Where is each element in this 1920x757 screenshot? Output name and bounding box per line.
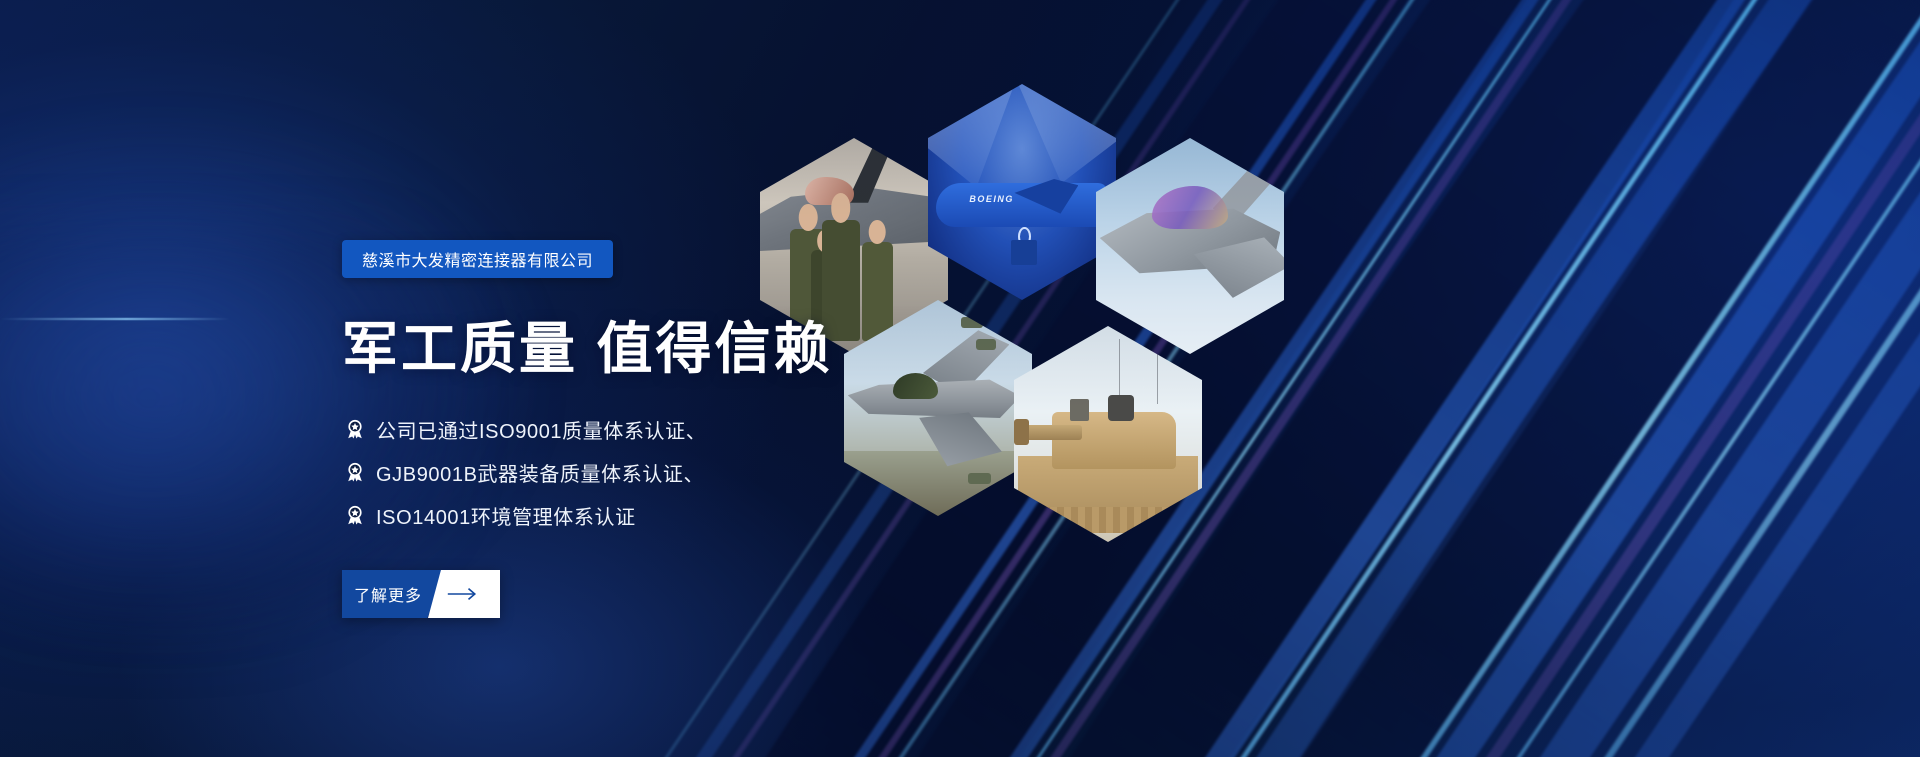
- hero-banner: BOEING: [0, 0, 1920, 757]
- medal-icon: [344, 462, 366, 484]
- list-item: 公司已通过ISO9001质量体系认证、: [344, 408, 706, 451]
- medal-icon: [344, 505, 366, 527]
- learn-more-button[interactable]: 了解更多: [342, 570, 500, 618]
- list-item: GJB9001B武器装备质量体系认证、: [344, 451, 706, 494]
- medal-icon: [344, 419, 366, 441]
- horizontal-light-line: [0, 318, 230, 320]
- company-name-label: 慈溪市大发精密连接器有限公司: [362, 247, 593, 271]
- hero-content: 慈溪市大发精密连接器有限公司 军工质量 值得信赖 公司已通过ISO9001质量体…: [342, 0, 1102, 757]
- certification-label: ISO14001环境管理体系认证: [376, 501, 636, 530]
- page-title: 军工质量 值得信赖: [342, 304, 833, 385]
- list-item: ISO14001环境管理体系认证: [344, 494, 706, 537]
- hex-fighter-cockpit: [1096, 138, 1284, 354]
- certification-label: 公司已通过ISO9001质量体系认证、: [376, 415, 706, 444]
- company-name-badge: 慈溪市大发精密连接器有限公司: [342, 240, 613, 278]
- certification-list: 公司已通过ISO9001质量体系认证、 GJB9001B武器装备质量体系认证、: [344, 408, 706, 537]
- certification-label: GJB9001B武器装备质量体系认证、: [376, 458, 704, 487]
